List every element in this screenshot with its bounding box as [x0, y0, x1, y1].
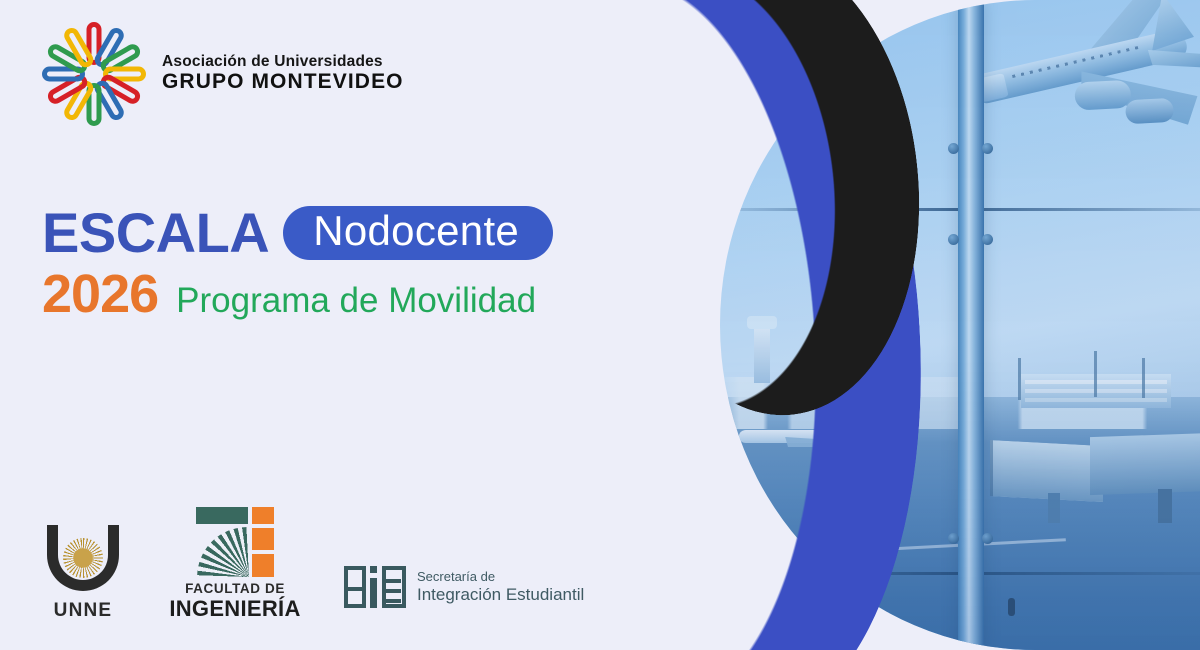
program-subtitle: Programa de Movilidad	[176, 283, 536, 318]
augm-line1: Asociación de Universidades	[162, 54, 404, 71]
escala-title: ESCALA	[42, 205, 269, 261]
nodocente-badge: Nodocente	[283, 206, 553, 260]
radiating-arc-icon	[197, 527, 249, 577]
augm-logo: Asociación de Universidades GRUPO MONTEV…	[42, 22, 404, 126]
augm-flower-mark	[42, 22, 146, 126]
letter-i-icon	[370, 578, 377, 608]
facultad-ingenieria-logo: FACULTAD DE INGENIERÍA	[160, 507, 310, 622]
facultad-line2: INGENIERÍA	[160, 596, 310, 622]
unne-label: UNNE	[40, 600, 126, 622]
augm-wordmark: Asociación de Universidades GRUPO MONTEV…	[162, 54, 404, 93]
augm-line2: GRUPO MONTEVIDEO	[162, 71, 404, 94]
partner-logos: UNNE FACULTAD DE INGENIERÍA Secretaría d…	[40, 507, 584, 622]
facultad-line1: FACULTAD DE	[160, 581, 310, 596]
sie-logo: Secretaría de Integración Estudiantil	[344, 566, 584, 622]
unne-logo: UNNE	[40, 525, 126, 622]
headline-line-2: 2026 Programa de Movilidad	[42, 267, 553, 321]
headline-block: ESCALA Nodocente 2026 Programa de Movili…	[42, 205, 553, 321]
letter-e-icon	[382, 566, 406, 608]
letter-s-icon	[344, 566, 366, 608]
sie-line1: Secretaría de	[417, 569, 584, 585]
letter-i-dot-icon	[370, 566, 377, 573]
letter-u-icon	[47, 525, 119, 591]
sie-line2: Integración Estudiantil	[417, 585, 584, 606]
unne-u-sun-mark	[43, 525, 123, 597]
escala-2026-banner: Asociación de Universidades GRUPO MONTEV…	[0, 0, 1200, 650]
sie-wordmark: Secretaría de Integración Estudiantil	[417, 569, 584, 606]
facultad-ingenieria-mark	[196, 507, 274, 577]
year-label: 2026	[42, 267, 158, 321]
sie-acronym-mark	[344, 566, 406, 608]
headline-line-1: ESCALA Nodocente	[42, 205, 553, 261]
